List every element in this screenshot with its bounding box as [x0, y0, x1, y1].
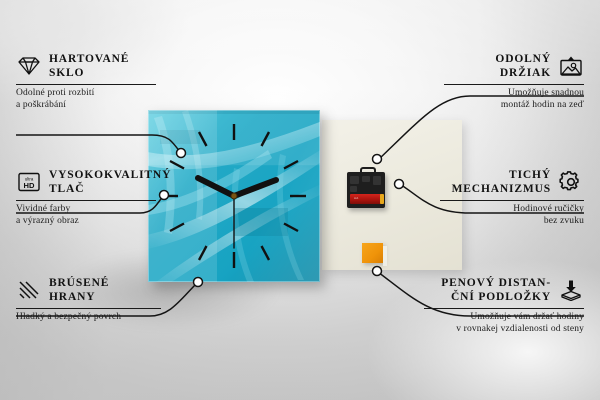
feature-high-quality-print: ultra HD VYSOKOKVALITNÝ TLAČ Vividné far…: [16, 168, 156, 227]
feature-desc-line1: Vividné farby: [16, 204, 156, 216]
feature-title-line1: TICHÝ: [440, 168, 551, 182]
connector-endpoint-right-2: [395, 180, 404, 189]
diamond-icon: [16, 55, 42, 77]
feature-ground-edges: BRÚSENÉ HRANY Hladký a bezpečný povrch: [16, 276, 161, 324]
feature-description: Odolné proti rozbití a poškrábání: [16, 88, 156, 111]
feature-divider: [16, 200, 156, 201]
feature-desc-line2: montáž hodin na zeď: [444, 100, 584, 112]
feature-header: BRÚSENÉ HRANY: [16, 276, 161, 304]
feature-title: VYSOKOKVALITNÝ TLAČ: [49, 168, 171, 196]
ground-edges-icon: [16, 279, 42, 301]
feature-header: HARTOVANÉ SKLO: [16, 52, 156, 80]
feature-desc-line1: Odolné proti rozbití: [16, 88, 156, 100]
feature-description: Hodinové ručičky bez zvuku: [440, 204, 584, 227]
feature-header: ultra HD VYSOKOKVALITNÝ TLAČ: [16, 168, 156, 196]
feature-title-line1: BRÚSENÉ: [49, 276, 109, 290]
feature-header: PENOVÝ DISTAN- ČNÍ PODLOŽKY: [424, 276, 584, 304]
feature-divider: [444, 84, 584, 85]
feature-title: BRÚSENÉ HRANY: [49, 276, 109, 304]
feature-title: ODOLNÝ DRŽIAK: [444, 52, 551, 80]
feature-desc-line2: a poškrábání: [16, 100, 156, 112]
feature-desc-line2: v rovnakej vzdialenosti od steny: [424, 324, 584, 336]
svg-text:HD: HD: [24, 181, 35, 190]
feature-title-line1: HARTOVANÉ: [49, 52, 129, 66]
gear-icon: [558, 171, 584, 193]
connector-endpoint-right-3: [373, 267, 382, 276]
feature-title-line1: ODOLNÝ: [444, 52, 551, 66]
wall-hanger-icon: [558, 55, 584, 77]
feature-title: PENOVÝ DISTAN- ČNÍ PODLOŽKY: [424, 276, 551, 304]
feature-divider: [16, 308, 161, 309]
foam-pad-icon: [558, 279, 584, 301]
feature-title-line2: MECHANIZMUS: [440, 182, 551, 196]
feature-silent-mechanism: TICHÝ MECHANIZMUS Hodinové ručičky bez z…: [440, 168, 584, 227]
connector-left-1: [16, 135, 180, 152]
feature-title-line1: PENOVÝ DISTAN-: [424, 276, 551, 290]
feature-desc-line2: a výrazný obraz: [16, 216, 156, 228]
feature-desc-line1: Umožňuje vám držať hodiny: [424, 312, 584, 324]
feature-desc-line2: bez zvuku: [440, 216, 584, 228]
feature-title-line2: ČNÍ PODLOŽKY: [424, 290, 551, 304]
infographic-canvas: AA: [0, 0, 600, 400]
feature-title-line2: DRŽIAK: [444, 66, 551, 80]
feature-tempered-glass: HARTOVANÉ SKLO Odolné proti rozbití a po…: [16, 52, 156, 111]
feature-divider: [424, 308, 584, 309]
feature-title-line2: TLAČ: [49, 182, 171, 196]
feature-title-line2: HRANY: [49, 290, 109, 304]
feature-desc-line1: Hodinové ručičky: [440, 204, 584, 216]
feature-description: Hladký a bezpečný povrch: [16, 312, 161, 324]
feature-title: TICHÝ MECHANIZMUS: [440, 168, 551, 196]
connector-endpoint-right-1: [373, 155, 382, 164]
feature-title-line1: VYSOKOKVALITNÝ: [49, 168, 171, 182]
connector-endpoint-left-1: [177, 149, 186, 158]
feature-title: HARTOVANÉ SKLO: [49, 52, 129, 80]
feature-durable-hanger: ODOLNÝ DRŽIAK Umožňuje snadnou montáž ho…: [444, 52, 584, 111]
feature-desc-line1: Umožňuje snadnou: [444, 88, 584, 100]
feature-foam-spacers: PENOVÝ DISTAN- ČNÍ PODLOŽKY Umožňuje vám…: [424, 276, 584, 335]
feature-header: TICHÝ MECHANIZMUS: [440, 168, 584, 196]
feature-title-line2: SKLO: [49, 66, 129, 80]
feature-desc-line1: Hladký a bezpečný povrch: [16, 312, 161, 324]
feature-description: Umožňuje vám držať hodiny v rovnakej vzd…: [424, 312, 584, 335]
feature-divider: [16, 84, 156, 85]
feature-header: ODOLNÝ DRŽIAK: [444, 52, 584, 80]
ultra-hd-icon: ultra HD: [16, 171, 42, 193]
feature-description: Umožňuje snadnou montáž hodin na zeď: [444, 88, 584, 111]
feature-description: Vividné farby a výrazný obraz: [16, 204, 156, 227]
feature-divider: [440, 200, 584, 201]
connector-endpoint-left-3: [194, 278, 203, 287]
